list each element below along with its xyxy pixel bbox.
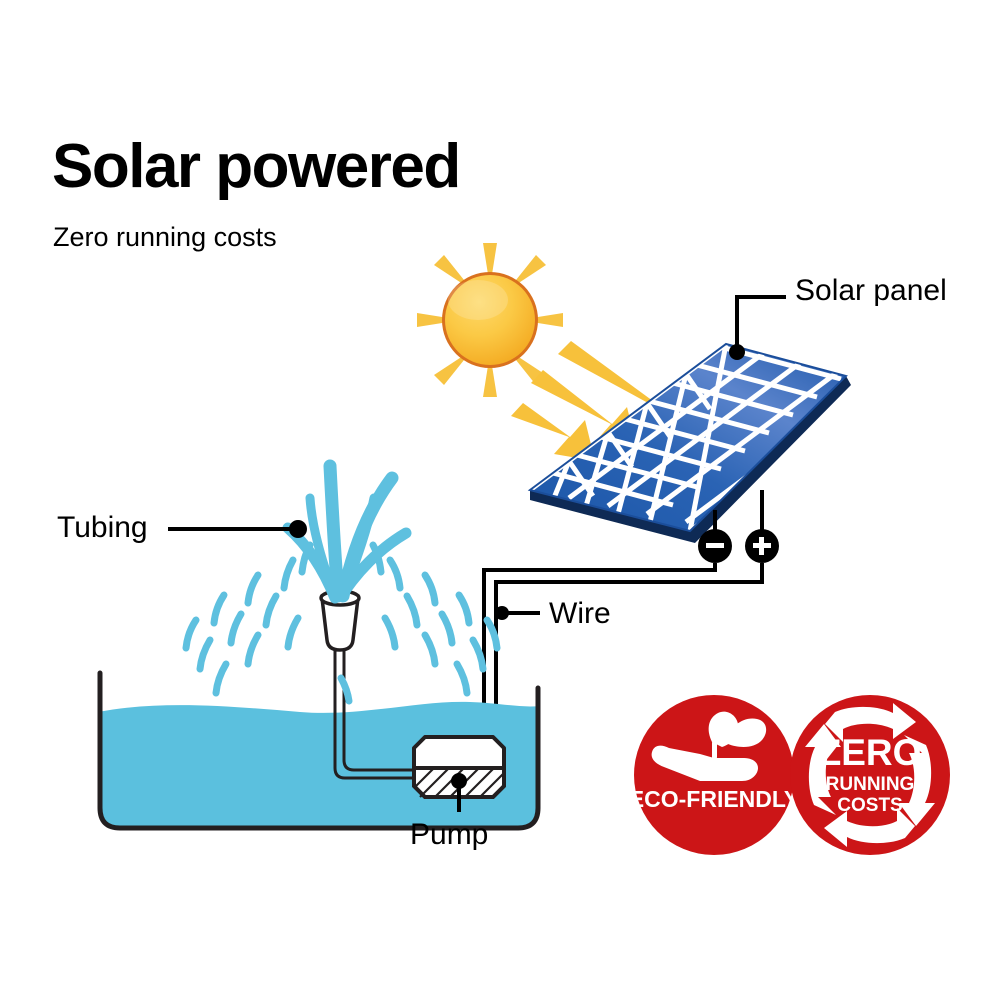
label-wire: Wire [549,597,611,631]
diagram-illustration: ECO-FRIENDLY ZERO RUNNING COSTS [0,0,1000,1000]
badge-eco-label: ECO-FRIENDLY [629,786,799,812]
terminal-positive [745,490,779,563]
leader-wire [495,606,540,620]
leader-dot-solar-panel [729,344,745,360]
label-pump: Pump [410,818,488,852]
leader-solar-panel [737,297,786,352]
badge-zero-running-costs: ZERO RUNNING COSTS [790,695,950,855]
badge-zero-line2: RUNNING [826,774,915,795]
leader-tubing [168,520,307,538]
badge-zero-line3: COSTS [837,795,902,816]
label-solar-panel: Solar panel [795,274,947,308]
label-tubing: Tubing [57,511,148,545]
badge-zero-line1: ZERO [819,732,922,773]
infographic-canvas: Solar powered Zero running costs [0,0,1000,1000]
badge-eco-friendly: ECO-FRIENDLY [629,695,799,855]
